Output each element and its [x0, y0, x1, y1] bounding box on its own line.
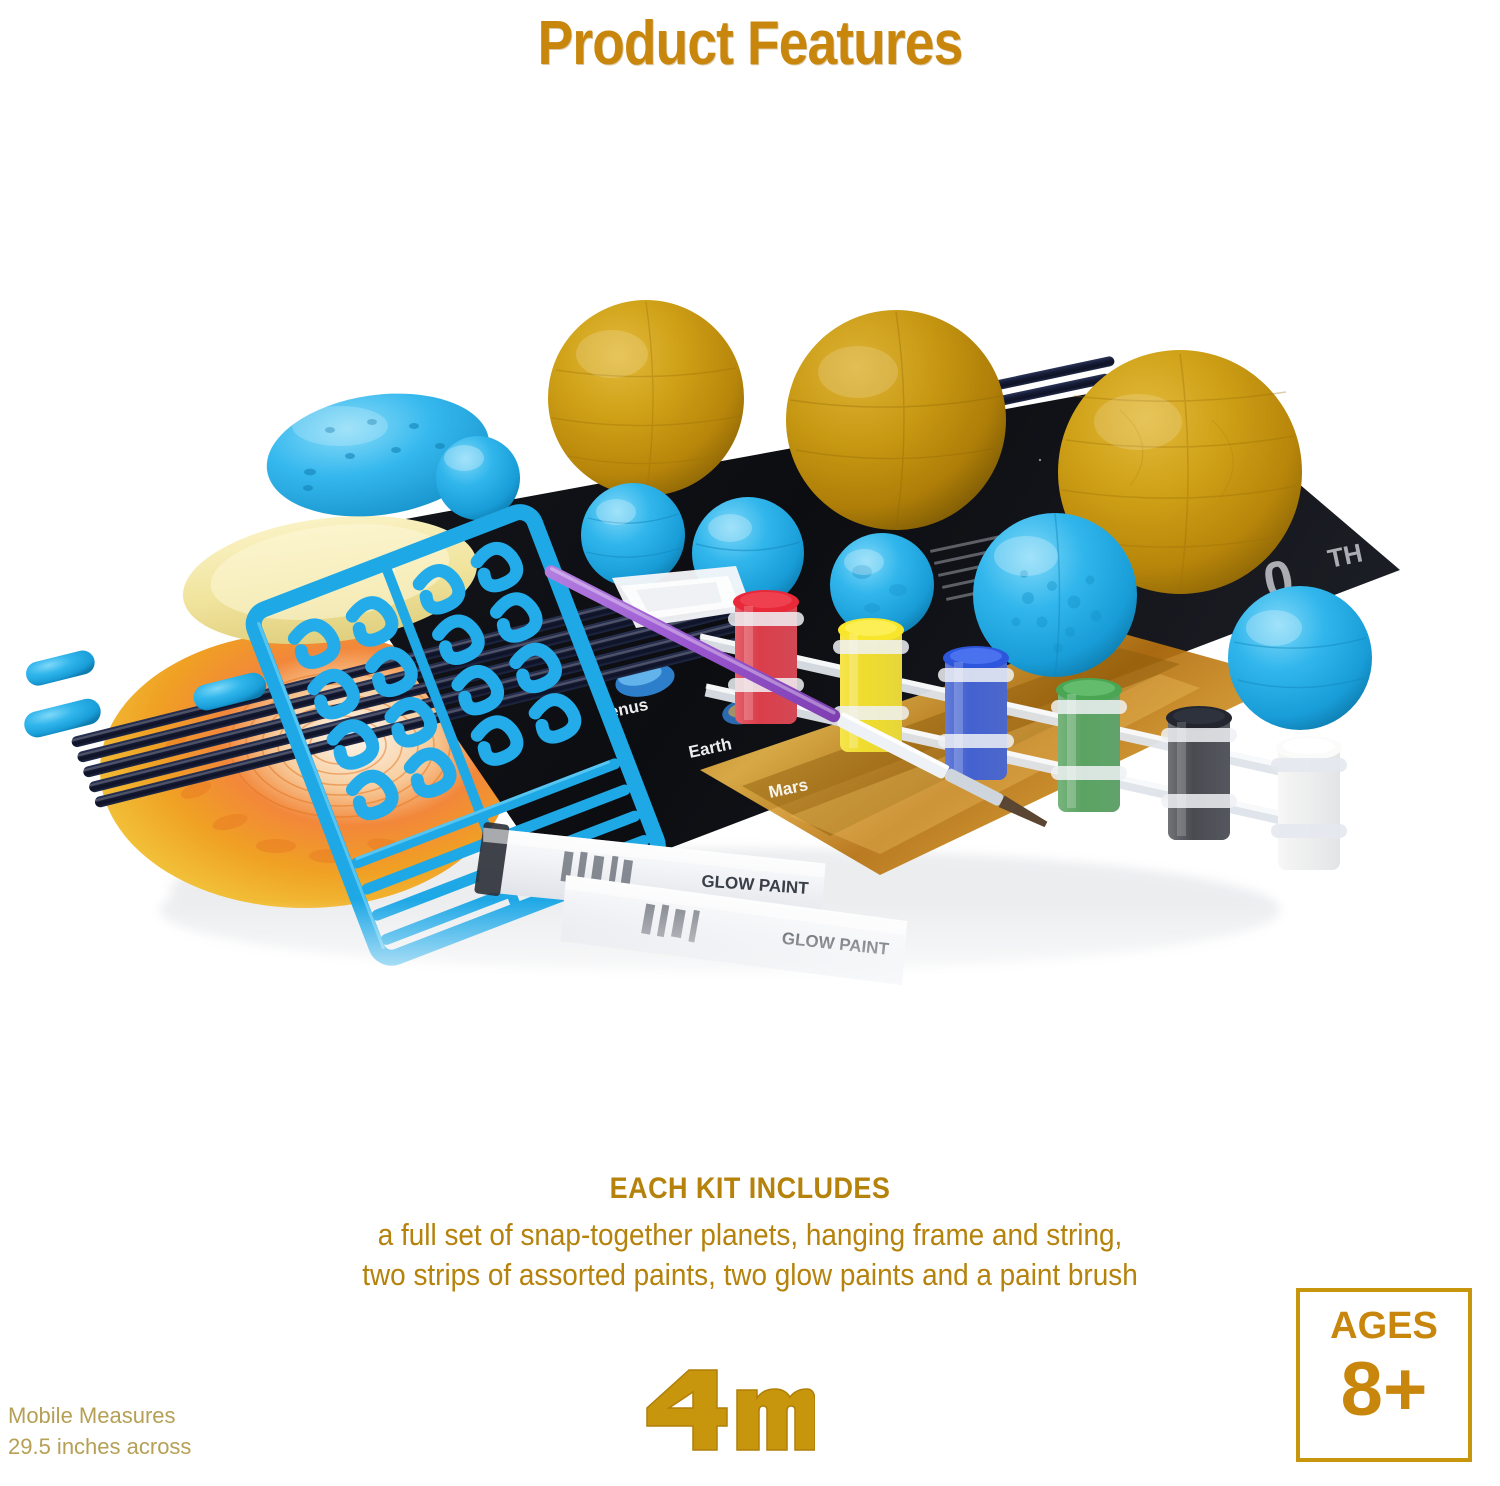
paint-pot-white	[1271, 736, 1347, 870]
kit-includes-line-2: two strips of assorted paints, two glow …	[75, 1255, 1425, 1295]
paint-pot-black	[1161, 706, 1237, 840]
ages-label: AGES	[1300, 1306, 1468, 1346]
paint-pot-blue	[938, 646, 1014, 780]
kit-includes-heading: EACH KIT INCLUDES	[75, 1172, 1425, 1206]
saturn-sphere	[786, 310, 1006, 530]
blue-right-sphere	[1228, 586, 1372, 730]
paint-pot-green	[1051, 678, 1127, 812]
ages-badge: AGES 8+	[1296, 1288, 1472, 1462]
paint-pot-red	[728, 590, 804, 724]
product-features-page: Product Features	[0, 0, 1500, 1486]
kit-includes-line-1: a full set of snap-together planets, han…	[75, 1215, 1425, 1255]
mobile-measures-line-1: Mobile Measures	[8, 1400, 191, 1431]
ages-value: 8+	[1300, 1352, 1468, 1428]
product-photo: Venus Earth Mars TH S 0	[0, 250, 1500, 1050]
mobile-measures-line-2: 29.5 inches across	[8, 1431, 191, 1462]
mobile-measures-note: Mobile Measures 29.5 inches across	[8, 1400, 191, 1462]
kit-includes-block: EACH KIT INCLUDES a full set of snap-tog…	[0, 1172, 1500, 1295]
4m-brand-logo: 4m	[645, 1368, 815, 1452]
page-title: Product Features	[105, 8, 1395, 79]
jupiter-sphere	[548, 300, 744, 496]
